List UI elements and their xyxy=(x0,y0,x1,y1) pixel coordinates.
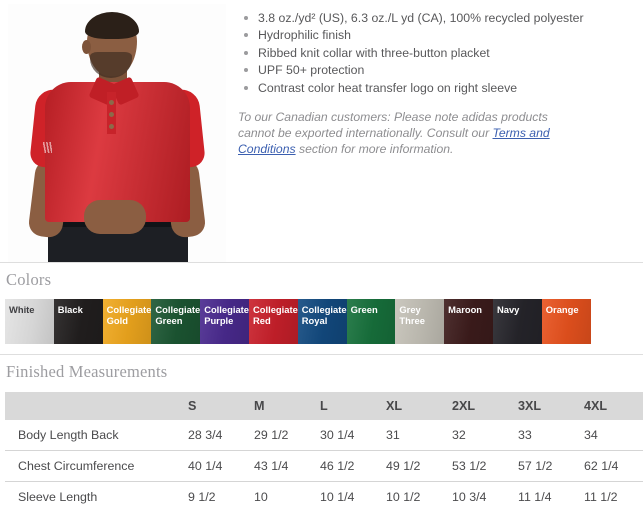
color-swatch-white[interactable]: White xyxy=(5,299,54,344)
swatch-label: White xyxy=(9,304,35,315)
feature-item: 3.8 oz./yd² (US), 6.3 oz./L yd (CA), 100… xyxy=(238,10,637,26)
product-info-column: 3.8 oz./yd² (US), 6.3 oz./L yd (CA), 100… xyxy=(226,4,643,170)
table-row: Chest Circumference 40 1/4 43 1/4 46 1/2… xyxy=(5,451,643,482)
cell-s: 9 1/2 xyxy=(188,482,254,512)
product-overview: 3.8 oz./yd² (US), 6.3 oz./L yd (CA), 100… xyxy=(0,0,643,262)
color-swatch-maroon[interactable]: Maroon xyxy=(444,299,493,344)
swatch-label: Collegiate Royal xyxy=(302,304,347,326)
note-text-after: section for more information. xyxy=(296,142,454,156)
swatch-label: Collegiate Purple xyxy=(204,304,249,326)
color-swatch-collegiate-gold[interactable]: Collegiate Gold xyxy=(103,299,152,344)
model-ear xyxy=(82,40,91,54)
row-label: Body Length Back xyxy=(5,420,188,451)
cell-xl: 49 1/2 xyxy=(386,451,452,482)
cell-s: 28 3/4 xyxy=(188,420,254,451)
polo-button-3 xyxy=(109,124,114,129)
cell-xl: 10 1/2 xyxy=(386,482,452,512)
adidas-logo-icon xyxy=(38,142,52,153)
column-header-4xl: 4XL xyxy=(584,392,643,420)
cell-2xl: 10 3/4 xyxy=(452,482,518,512)
color-swatch-navy[interactable]: Navy xyxy=(493,299,542,344)
swatch-label: Collegiate Gold xyxy=(107,304,152,326)
column-header-m: M xyxy=(254,392,320,420)
color-swatch-collegiate-purple[interactable]: Collegiate Purple xyxy=(200,299,249,344)
color-swatch-orange[interactable]: Orange xyxy=(542,299,591,344)
table-header-row: S M L XL 2XL 3XL 4XL xyxy=(5,392,643,420)
color-swatch-row: White Black Collegiate Gold Collegiate G… xyxy=(5,299,643,344)
cell-4xl: 62 1/4 xyxy=(584,451,643,482)
polo-button-1 xyxy=(109,100,114,105)
polo-button-2 xyxy=(109,112,114,117)
cell-xl: 31 xyxy=(386,420,452,451)
cell-m: 43 1/4 xyxy=(254,451,320,482)
column-header-l: L xyxy=(320,392,386,420)
color-swatch-green[interactable]: Green xyxy=(347,299,396,344)
measurements-heading: Finished Measurements xyxy=(0,355,643,382)
cell-m: 29 1/2 xyxy=(254,420,320,451)
column-header-measurement xyxy=(5,392,188,420)
column-header-xl: XL xyxy=(386,392,452,420)
cell-3xl: 57 1/2 xyxy=(518,451,584,482)
color-swatch-black[interactable]: Black xyxy=(54,299,103,344)
color-swatch-grey-three[interactable]: Grey Three xyxy=(395,299,444,344)
swatch-label: Grey Three xyxy=(399,304,425,326)
measurements-table-head: S M L XL 2XL 3XL 4XL xyxy=(5,392,643,420)
measurements-table-body: Body Length Back 28 3/4 29 1/2 30 1/4 31… xyxy=(5,420,643,512)
measurements-table: S M L XL 2XL 3XL 4XL Body Length Back 28… xyxy=(5,392,643,512)
feature-item: Contrast color heat transfer logo on rig… xyxy=(238,80,637,96)
feature-item: UPF 50+ protection xyxy=(238,62,637,78)
color-swatch-collegiate-green[interactable]: Collegiate Green xyxy=(151,299,200,344)
swatch-label: Collegiate Red xyxy=(253,304,298,326)
row-label: Chest Circumference xyxy=(5,451,188,482)
canadian-customers-note: To our Canadian customers: Please note a… xyxy=(238,110,560,157)
model-hands xyxy=(84,200,146,234)
column-header-2xl: 2XL xyxy=(452,392,518,420)
cell-2xl: 53 1/2 xyxy=(452,451,518,482)
color-swatch-collegiate-royal[interactable]: Collegiate Royal xyxy=(298,299,347,344)
cell-s: 40 1/4 xyxy=(188,451,254,482)
swatch-label: Green xyxy=(351,304,378,315)
column-header-3xl: 3XL xyxy=(518,392,584,420)
cell-l: 10 1/4 xyxy=(320,482,386,512)
color-swatch-collegiate-red[interactable]: Collegiate Red xyxy=(249,299,298,344)
cell-2xl: 32 xyxy=(452,420,518,451)
column-header-s: S xyxy=(188,392,254,420)
swatch-label: Collegiate Green xyxy=(155,304,200,326)
table-row: Body Length Back 28 3/4 29 1/2 30 1/4 31… xyxy=(5,420,643,451)
cell-l: 46 1/2 xyxy=(320,451,386,482)
cell-m: 10 xyxy=(254,482,320,512)
feature-list: 3.8 oz./yd² (US), 6.3 oz./L yd (CA), 100… xyxy=(238,10,637,96)
table-row: Sleeve Length 9 1/2 10 10 1/4 10 1/2 10 … xyxy=(5,482,643,512)
feature-item: Hydrophilic finish xyxy=(238,27,637,43)
row-label: Sleeve Length xyxy=(5,482,188,512)
cell-3xl: 11 1/4 xyxy=(518,482,584,512)
colors-heading: Colors xyxy=(0,263,643,290)
cell-4xl: 11 1/2 xyxy=(584,482,643,512)
swatch-label: Navy xyxy=(497,304,519,315)
swatch-label: Maroon xyxy=(448,304,482,315)
measurements-table-wrapper: S M L XL 2XL 3XL 4XL Body Length Back 28… xyxy=(5,392,638,512)
cell-3xl: 33 xyxy=(518,420,584,451)
swatch-label: Black xyxy=(58,304,83,315)
cell-l: 30 1/4 xyxy=(320,420,386,451)
cell-4xl: 34 xyxy=(584,420,643,451)
swatch-label: Orange xyxy=(546,304,579,315)
product-photo[interactable] xyxy=(8,4,226,262)
feature-item: Ribbed knit collar with three-button pla… xyxy=(238,45,637,61)
